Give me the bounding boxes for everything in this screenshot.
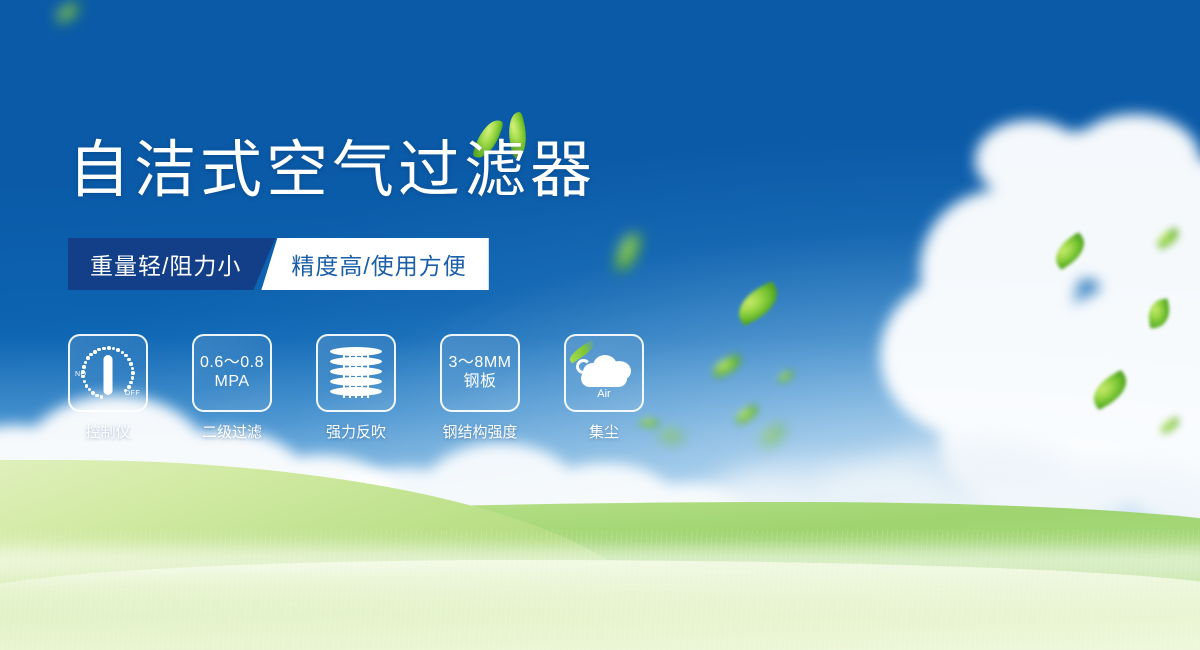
gauge-tick-dot [100, 395, 104, 399]
feature-list: NO OFF 控制仪 0.6～0.8 MPA 二级过滤 [68, 334, 644, 442]
gauge-tick-dot [91, 391, 95, 395]
feature-item-backblow[interactable]: 强力反吹 [316, 334, 396, 442]
feature-item-control[interactable]: NO OFF 控制仪 [68, 334, 148, 442]
gauge-tick-dot [124, 354, 128, 358]
stack-disc [330, 387, 382, 396]
gauge-tick-dot [129, 381, 133, 385]
grass-field [0, 440, 1200, 650]
gauge-tick-dot [85, 384, 89, 388]
filter-stack-icon [327, 344, 385, 402]
subtitle-left: 重量轻/阻力小 [68, 238, 275, 290]
gauge-tick-dot [89, 353, 93, 357]
steel-thickness: 3～8MM [449, 354, 512, 373]
page-title: 自洁式空气过滤器 [68, 140, 596, 202]
gauge-tick-dot [107, 346, 111, 350]
gauge-tick-dot [131, 367, 135, 371]
gauge-label-off: OFF [125, 390, 140, 397]
feature-box-filtration[interactable]: 0.6～0.8 MPA [192, 334, 272, 412]
gauge-tick-dot [112, 347, 116, 351]
cloud-swirl-icon [576, 359, 591, 374]
stack-disc [330, 367, 382, 376]
gauge-tick-dot [97, 348, 101, 352]
subtitle-right: 精度高/使用方便 [261, 238, 488, 290]
pressure-text-icon: 0.6～0.8 MPA [200, 354, 264, 392]
feature-label-filtration: 二级过滤 [202, 421, 262, 442]
stack-disc [330, 357, 382, 366]
control-gauge-icon: NO OFF [77, 342, 139, 404]
gauge-tick-dot [102, 347, 106, 351]
air-cloud-icon: Air [573, 349, 635, 397]
gauge-tick-dot [131, 371, 135, 375]
gauge-needle [104, 355, 113, 395]
gauge-tick-dot [81, 370, 85, 374]
feature-box-dust[interactable]: Air [564, 334, 644, 412]
gauge-tick-dot [93, 350, 97, 354]
feature-item-dust[interactable]: Air 集尘 [564, 334, 644, 442]
gauge-tick-dot [131, 376, 135, 380]
gauge-tick-dot [86, 356, 90, 360]
air-label: Air [573, 388, 635, 400]
stack-disc [330, 347, 382, 356]
steel-plate-text-icon: 3～8MM 钢板 [449, 354, 512, 392]
feature-item-steel[interactable]: 3～8MM 钢板 钢结构强度 [440, 334, 520, 442]
feature-label-dust: 集尘 [589, 421, 619, 442]
gauge-tick-dot [84, 361, 88, 365]
feature-label-control: 控制仪 [85, 421, 130, 442]
steel-material: 钢板 [449, 373, 512, 392]
feature-item-filtration[interactable]: 0.6～0.8 MPA 二级过滤 [192, 334, 272, 442]
subtitle-bar: 重量轻/阻力小 精度高/使用方便 [68, 238, 489, 290]
gauge-tick-dot [82, 365, 86, 369]
gauge-tick-dot [129, 362, 133, 366]
feature-label-backblow: 强力反吹 [326, 421, 386, 442]
gauge-tick-dot [116, 348, 120, 352]
pressure-unit: MPA [200, 373, 264, 392]
stack-disc [330, 377, 382, 386]
gauge-tick-dot [127, 385, 131, 389]
feature-box-steel[interactable]: 3～8MM 钢板 [440, 334, 520, 412]
gauge-tick-dot [83, 380, 87, 384]
promo-banner: 自洁式空气过滤器 重量轻/阻力小 精度高/使用方便 NO OFF 控制仪 0.6… [0, 0, 1200, 650]
feature-box-backblow[interactable] [316, 334, 396, 412]
gauge-tick-dot [127, 358, 131, 362]
gauge-tick-dot [95, 394, 99, 398]
feature-box-control[interactable]: NO OFF [68, 334, 148, 412]
feature-label-steel: 钢结构强度 [442, 421, 517, 442]
pressure-value: 0.6～0.8 [200, 354, 264, 373]
grass-texture [0, 530, 1200, 650]
